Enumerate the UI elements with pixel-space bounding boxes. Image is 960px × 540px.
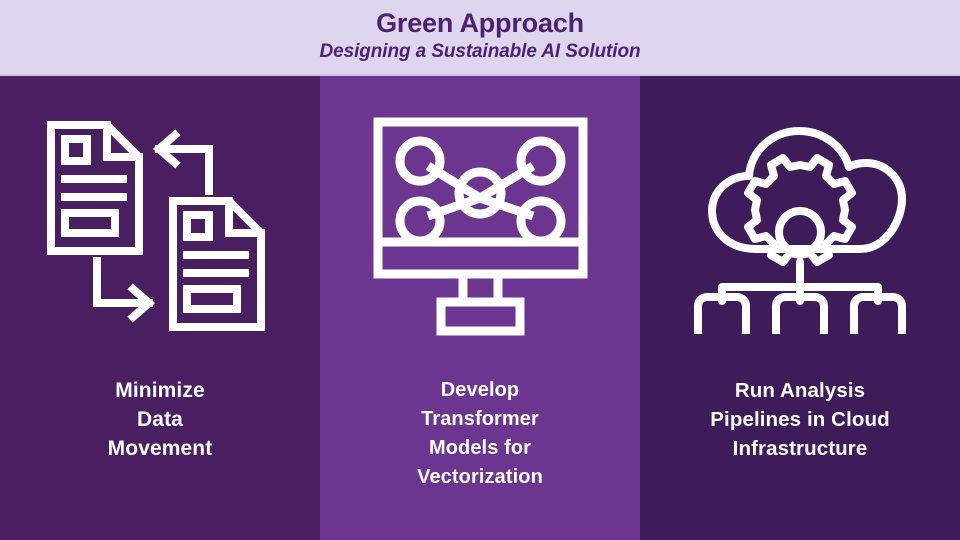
caption-line: Transformer [360, 405, 600, 434]
caption-line: Run Analysis [655, 376, 945, 405]
caption-line: Minimize [25, 376, 295, 405]
caption-line: Develop [360, 376, 600, 405]
caption-line: Pipelines in Cloud [655, 405, 945, 434]
page-title: Green Approach [376, 7, 584, 39]
caption-line: Models for [360, 434, 600, 463]
icon-container-left [0, 76, 320, 376]
caption-line: Infrastructure [655, 434, 945, 463]
slide-header: Green Approach Designing a Sustainable A… [0, 0, 960, 76]
column-minimize-data-movement[interactable]: Minimize Data Movement [0, 76, 320, 540]
slide-canvas: Green Approach Designing a Sustainable A… [0, 0, 960, 540]
icon-container-right [640, 76, 960, 376]
icon-container-middle [320, 76, 640, 376]
document-exchange-icon [45, 119, 275, 334]
caption-line: Movement [25, 434, 295, 463]
caption-line: Data [25, 405, 295, 434]
cloud-gear-infrastructure-icon [688, 119, 913, 334]
column-run-analysis-pipelines[interactable]: Run Analysis Pipelines in Cloud Infrastr… [640, 76, 960, 540]
column-develop-transformer-models[interactable]: Develop Transformer Models for Vectoriza… [320, 76, 640, 540]
page-subtitle: Designing a Sustainable AI Solution [320, 39, 641, 65]
column-caption-cloud: Run Analysis Pipelines in Cloud Infrastr… [655, 376, 945, 463]
column-group: Minimize Data Movement [0, 76, 960, 540]
monitor-network-nodes-icon [373, 116, 588, 336]
column-caption-transformer: Develop Transformer Models for Vectoriza… [360, 376, 600, 492]
column-caption-minimize: Minimize Data Movement [25, 376, 295, 463]
caption-line: Vectorization [360, 463, 600, 492]
